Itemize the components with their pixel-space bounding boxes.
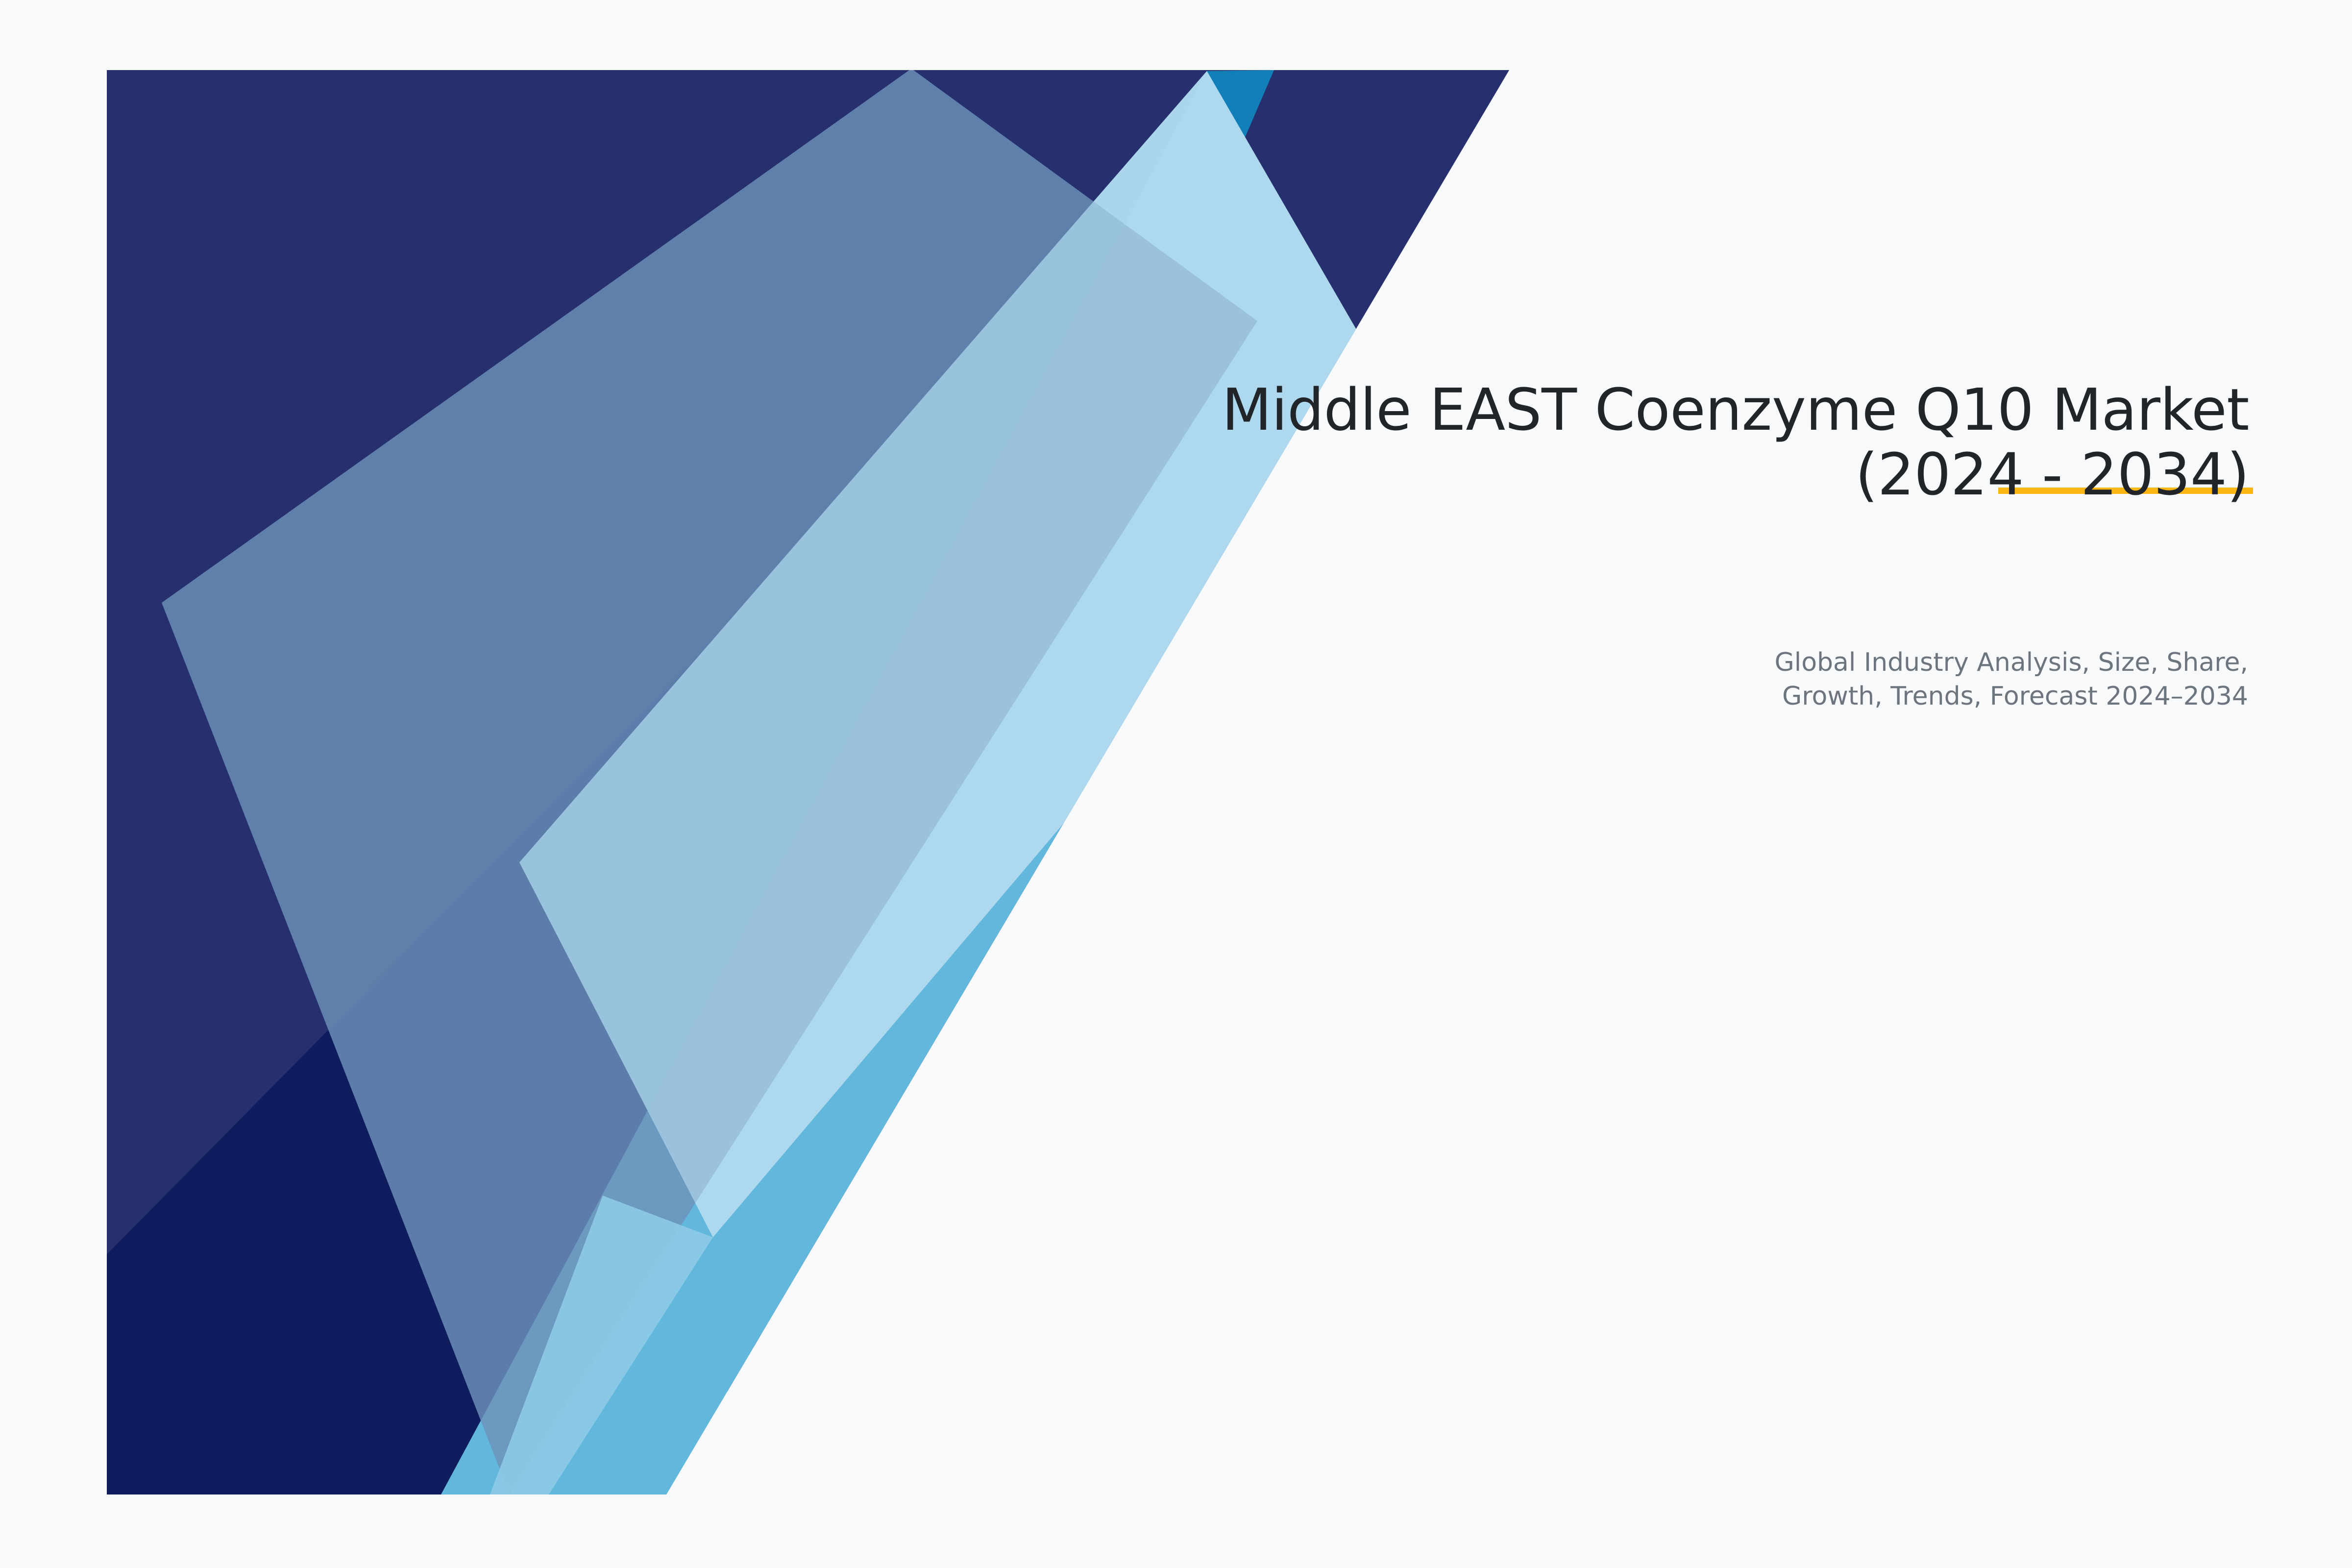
subtitle-line-2: Growth, Trends, Forecast 2024–2034	[1121, 680, 2248, 713]
cover-text-layer: Middle EAST Coenzyme Q10 Market (2024 - …	[0, 0, 2352, 1568]
subtitle-line-1: Global Industry Analysis, Size, Share,	[1121, 646, 2248, 680]
title-line-1: Middle EAST Coenzyme Q10 Market	[828, 377, 2249, 442]
page-title: Middle EAST Coenzyme Q10 Market (2024 - …	[828, 377, 2249, 507]
page-subtitle: Global Industry Analysis, Size, Share, G…	[1121, 646, 2248, 713]
report-cover: Middle EAST Coenzyme Q10 Market (2024 - …	[0, 0, 2352, 1568]
title-line-2-wrap: (2024 - 2034)	[1855, 442, 2249, 507]
title-line-2: (2024 - 2034)	[1855, 441, 2249, 508]
